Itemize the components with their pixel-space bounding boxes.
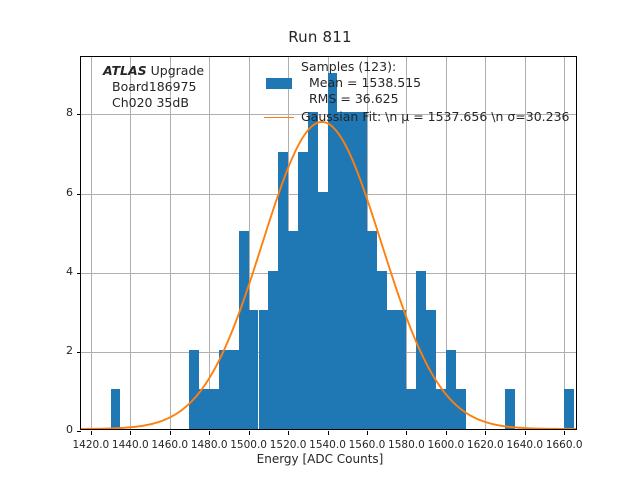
- x-tick-label: 1440.0: [108, 439, 152, 451]
- fit-path: [81, 122, 576, 429]
- legend-entry-fit: Gaussian Fit: \n μ = 1537.656 \n σ=30.23…: [257, 109, 570, 125]
- upgrade-label: Upgrade: [147, 63, 204, 78]
- legend-bar-swatch: [257, 78, 301, 89]
- annotation-line-2: Board186975: [103, 79, 204, 95]
- annotation-line-1: ATLAS Upgrade: [103, 63, 204, 79]
- x-tick-mark: [130, 431, 131, 435]
- figure-canvas: Run 811 1420.01440.01460.01480.01500.015…: [0, 0, 640, 480]
- x-tick-label: 1520.0: [266, 439, 310, 451]
- x-tick-mark: [446, 431, 447, 435]
- x-tick-label: 1500.0: [227, 439, 271, 451]
- x-tick-mark: [564, 431, 565, 435]
- x-tick-label: 1640.0: [503, 439, 547, 451]
- x-tick-mark: [406, 431, 407, 435]
- legend-entry-samples: Samples (123): Mean = 1538.515 RMS = 36.…: [257, 59, 570, 107]
- atlas-label: ATLAS: [103, 63, 147, 78]
- x-tick-mark: [170, 431, 171, 435]
- legend-samples-header: Samples (123):: [301, 59, 421, 75]
- y-tick-label: 8: [43, 106, 73, 119]
- y-tick-label: 4: [43, 265, 73, 278]
- x-tick-label: 1480.0: [187, 439, 231, 451]
- x-tick-label: 1560.0: [345, 439, 389, 451]
- bar-color-patch: [266, 78, 292, 89]
- x-tick-mark: [367, 431, 368, 435]
- chart-title: Run 811: [0, 28, 640, 46]
- x-tick-mark: [288, 431, 289, 435]
- x-tick-label: 1600.0: [424, 439, 468, 451]
- x-tick-label: 1540.0: [306, 439, 350, 451]
- x-tick-label: 1420.0: [69, 439, 113, 451]
- annotation-line-3: Ch020 35dB: [103, 95, 204, 111]
- y-tick-mark: [77, 194, 81, 195]
- x-tick-mark: [249, 431, 250, 435]
- legend-mean: Mean = 1538.515: [301, 75, 421, 91]
- legend-line-swatch: [257, 117, 301, 118]
- y-tick-label: 6: [43, 186, 73, 199]
- x-tick-label: 1580.0: [384, 439, 428, 451]
- x-axis-label: Energy [ADC Counts]: [0, 452, 640, 466]
- y-tick-mark: [77, 273, 81, 274]
- x-tick-mark: [209, 431, 210, 435]
- fit-color-line: [264, 117, 294, 118]
- y-tick-mark: [77, 431, 81, 432]
- x-tick-mark: [91, 431, 92, 435]
- x-tick-mark: [328, 431, 329, 435]
- legend-rms: RMS = 36.625: [301, 91, 421, 107]
- y-tick-label: 0: [43, 423, 73, 436]
- legend: Samples (123): Mean = 1538.515 RMS = 36.…: [257, 59, 570, 125]
- legend-samples-text: Samples (123): Mean = 1538.515 RMS = 36.…: [301, 59, 421, 107]
- plot-area: 1420.01440.01460.01480.01500.01520.01540…: [80, 56, 577, 430]
- x-tick-label: 1460.0: [148, 439, 192, 451]
- legend-fit-label: Gaussian Fit: \n μ = 1537.656 \n σ=30.23…: [301, 109, 570, 125]
- x-tick-mark: [525, 431, 526, 435]
- y-tick-mark: [77, 352, 81, 353]
- x-tick-mark: [485, 431, 486, 435]
- x-tick-label: 1620.0: [463, 439, 507, 451]
- y-tick-label: 2: [43, 344, 73, 357]
- x-tick-label: 1660.0: [542, 439, 586, 451]
- atlas-annotation: ATLAS Upgrade Board186975 Ch020 35dB: [103, 63, 204, 111]
- y-tick-mark: [77, 114, 81, 115]
